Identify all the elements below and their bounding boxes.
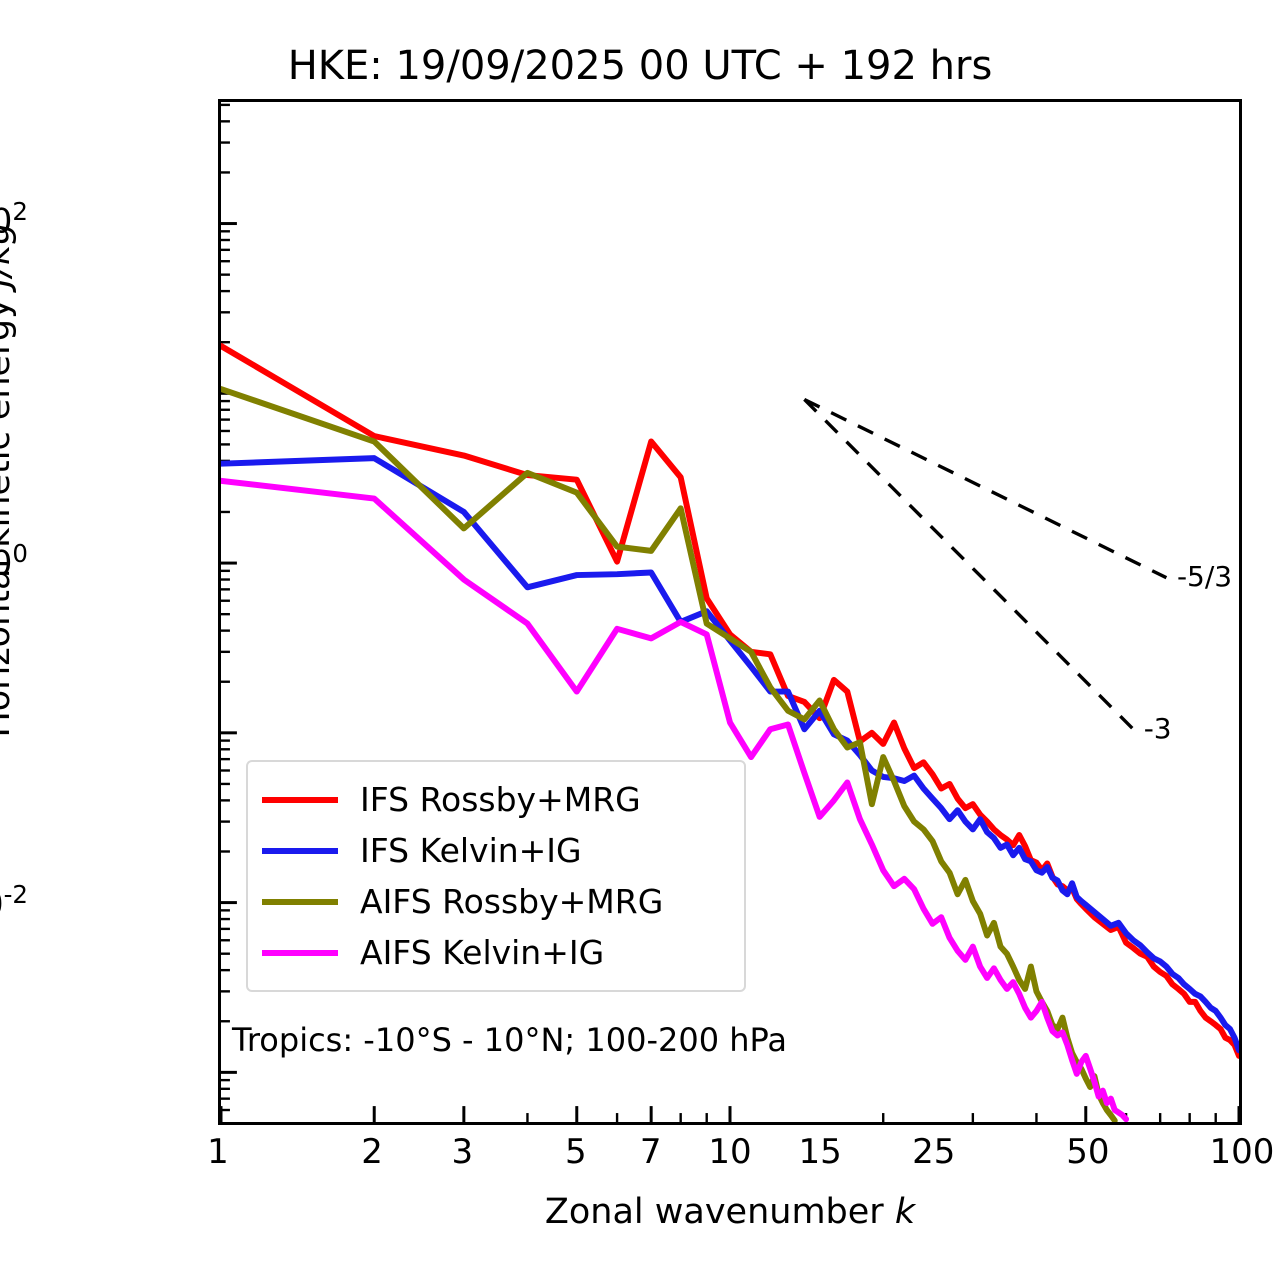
x-axis-label: Zonal wavenumber k	[218, 1192, 1242, 1232]
y-tick-exponent: 0	[12, 539, 28, 568]
figure-root: HKE: 19/09/2025 00 UTC + 192 hrs Horizon…	[0, 0, 1280, 1288]
legend-item-label: IFS Rossby+MRG	[360, 783, 641, 816]
legend-item[interactable]: IFS Kelvin+IG	[262, 825, 728, 876]
legend-color-swatch	[262, 797, 338, 803]
slope-label: -3	[1144, 712, 1172, 745]
legend-item[interactable]: AIFS Rossby+MRG	[262, 876, 728, 927]
region-annotation: Tropics: -10°S - 10°N; 100-200 hPa	[232, 1021, 787, 1059]
x-tick-label: 50	[1008, 1132, 1168, 1172]
reference-slope-line	[804, 399, 1133, 729]
y-tick-mantissa: 10	[0, 202, 12, 242]
y-axis-label-text: Horizontal kinetic energy	[0, 287, 18, 737]
legend-item[interactable]: AIFS Kelvin+IG	[262, 927, 728, 978]
x-axis-symbol: k	[895, 1192, 915, 1232]
reference-slope-lines	[804, 399, 1166, 729]
legend-color-swatch	[262, 848, 338, 854]
legend-color-swatch	[262, 899, 338, 905]
reference-slope-line	[804, 399, 1166, 577]
y-tick-label: 10-2	[0, 880, 28, 924]
chart-title: HKE: 19/09/2025 00 UTC + 192 hrs	[0, 42, 1280, 90]
x-axis-label-text: Zonal wavenumber	[545, 1192, 895, 1232]
data-series-group	[221, 346, 1239, 1121]
legend-color-swatch	[262, 950, 338, 956]
legend-item[interactable]: IFS Rossby+MRG	[262, 774, 728, 825]
x-tick-label: 100	[1162, 1132, 1280, 1172]
y-tick-label: 100	[0, 539, 28, 583]
slope-label: -5/3	[1177, 560, 1232, 593]
y-tick-mantissa: 10	[0, 543, 12, 583]
x-tick-label: 1	[138, 1132, 298, 1172]
y-tick-exponent: 2	[12, 197, 28, 226]
y-tick-label: 102	[0, 197, 28, 241]
legend-item-label: IFS Kelvin+IG	[360, 834, 582, 867]
x-tick-label: 25	[854, 1132, 1014, 1172]
legend: IFS Rossby+MRGIFS Kelvin+IGAIFS Rossby+M…	[246, 760, 746, 992]
legend-item-label: AIFS Kelvin+IG	[360, 936, 604, 969]
y-tick-exponent: -2	[4, 880, 28, 909]
legend-item-label: AIFS Rossby+MRG	[360, 885, 663, 918]
